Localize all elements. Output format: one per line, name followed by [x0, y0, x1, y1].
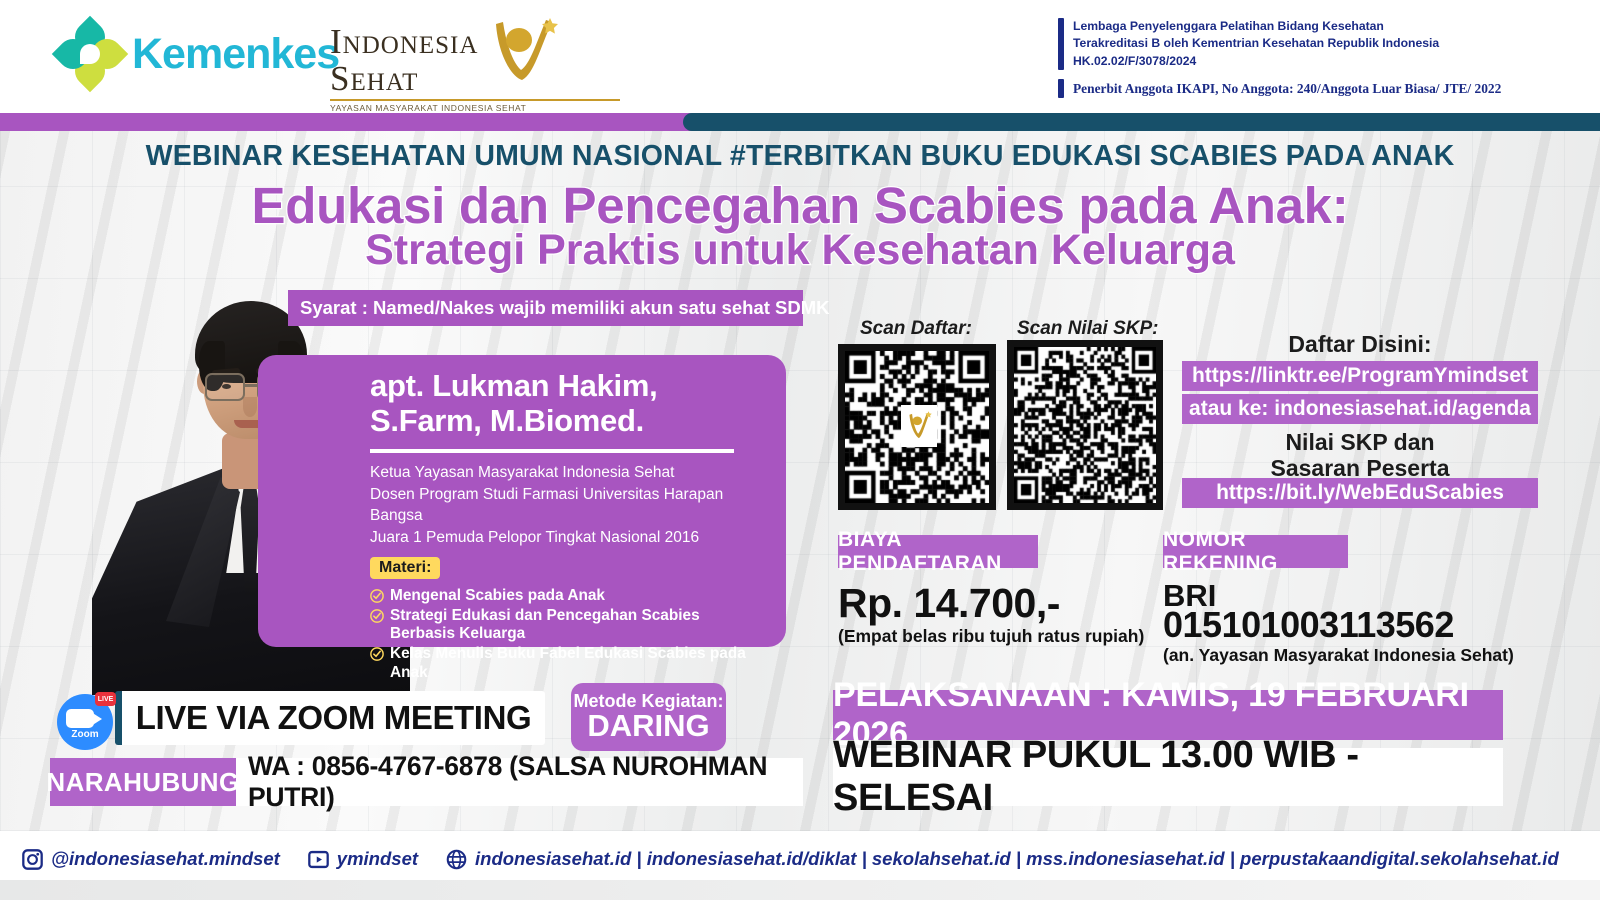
accreditation-line-3: HK.02.02/F/3078/2024 [1073, 53, 1439, 70]
webinar-poster: Kemenkes Indonesia Sehat YAYASAN MASYARA… [0, 0, 1600, 900]
ikapi-lines: Penerbit Anggota IKAPI, No Anggota: 240/… [1073, 79, 1501, 98]
check-circle-icon [370, 647, 384, 661]
footer-youtube-handle: ymindset [337, 848, 418, 870]
register-link-linktree[interactable]: https://linktr.ee/ProgramYmindset [1182, 361, 1538, 391]
contact-label: NARAHUBUNG [50, 758, 236, 806]
footer-pad [0, 880, 1600, 900]
bank-account-owner: (an. Yayasan Masyarakat Indonesia Sehat) [1163, 645, 1514, 666]
strip-teal-segment [683, 113, 1600, 131]
kemenkes-mark-icon [58, 22, 122, 86]
check-circle-icon [370, 589, 384, 603]
footer-youtube[interactable]: ymindset [308, 848, 418, 870]
fee-amount: Rp. 14.700,- [838, 580, 1060, 627]
strip-purple-segment [0, 113, 700, 131]
contact-whatsapp[interactable]: WA : 0856-4767-6878 (SALSA NUROHMAN PUTR… [236, 758, 803, 806]
is-word-indonesia: Indonesia [330, 22, 478, 61]
footer-instagram-handle: @indonesiasehat.mindset [51, 848, 280, 870]
divider-strip [0, 113, 1600, 131]
live-platform-bar: LIVE VIA ZOOM MEETING [115, 691, 545, 745]
zoom-icon-label: Zoom [57, 729, 113, 740]
swoosh-star-icon [488, 18, 558, 86]
ikapi-bar [1058, 79, 1064, 98]
requirement-banner: Syarat : Named/Nakes wajib memiliki akun… [288, 290, 803, 326]
skp-heading-line-1: Nilai SKP dan [1180, 430, 1540, 456]
method-value: DARING [587, 710, 709, 743]
speaker-name: apt. Lukman Hakim, S.Farm, M.Biomed. [370, 369, 766, 438]
register-link-agenda[interactable]: atau ke: indonesiasehat.id/agenda [1182, 394, 1538, 424]
speaker-role-2: Dosen Program Studi Farmasi Universitas … [370, 484, 766, 527]
globe-icon [446, 849, 467, 870]
qr-code-nilai-skp[interactable] [1007, 340, 1163, 510]
kemenkes-wordmark: Kemenkes [132, 30, 339, 79]
accreditation-bar [1058, 18, 1064, 70]
materi-item-text: Strategi Edukasi dan Pencegahan Scabies … [390, 607, 766, 643]
materi-item-text: Mengenal Scabies pada Anak [390, 587, 605, 605]
speaker-divider [370, 449, 734, 453]
speaker-roles: Ketua Yayasan Masyarakat Indonesia Sehat… [370, 462, 766, 548]
bank-account-number: 015101003113562 [1163, 607, 1454, 643]
fee-tag: BIAYA PENDAFTARAN [838, 535, 1038, 568]
materi-list: Mengenal Scabies pada Anak Strategi Eduk… [370, 587, 766, 682]
footer-bar: @indonesiasehat.mindset ymindset indones… [0, 838, 1600, 880]
qr-center-logo [901, 405, 937, 447]
accreditation-group-1: Lembaga Penyelenggara Pelatihan Bidang K… [1058, 18, 1578, 70]
accreditation-block: Lembaga Penyelenggara Pelatihan Bidang K… [1058, 18, 1578, 107]
footer-websites[interactable]: indonesiasehat.id | indonesiasehat.id/di… [446, 848, 1559, 870]
schedule-date-bar: PELAKSANAAN : KAMIS, 19 FEBRUARI 2026 [833, 690, 1503, 740]
fee-amount-words: (Empat belas ribu tujuh ratus rupiah) [838, 626, 1144, 647]
header-band: Kemenkes Indonesia Sehat YAYASAN MASYARA… [0, 0, 1600, 113]
swoosh-small-icon [906, 411, 932, 441]
check-circle-icon [370, 609, 384, 623]
indonesia-sehat-logo: Indonesia Sehat YAYASAN MASYARAKAT INDON… [330, 24, 630, 113]
accreditation-line-1: Lembaga Penyelenggara Pelatihan Bidang K… [1073, 18, 1439, 35]
instagram-icon [22, 849, 43, 870]
footer-websites-text: indonesiasehat.id | indonesiasehat.id/di… [475, 848, 1559, 870]
account-tag: NOMOR REKENING [1163, 535, 1348, 568]
contact-label-text: NARAHUBUNG [46, 767, 239, 798]
method-card: Metode Kegiatan: DARING [571, 683, 726, 751]
accreditation-group-2: Penerbit Anggota IKAPI, No Anggota: 240/… [1058, 79, 1578, 98]
materi-item: Mengenal Scabies pada Anak [370, 587, 766, 605]
schedule-time-text: WEBINAR PUKUL 13.00 WIB - SELESAI [833, 734, 1503, 820]
live-platform-text: LIVE VIA ZOOM MEETING [136, 699, 532, 737]
speaker-role-3: Juara 1 Pemuda Pelopor Tingkat Nasional … [370, 527, 766, 548]
register-heading: Daftar Disini: [1180, 332, 1540, 358]
speaker-name-line-1: apt. Lukman Hakim, [370, 369, 766, 404]
event-kicker: WEBINAR KESEHATAN UMUM NASIONAL #TERBITK… [0, 140, 1600, 173]
is-word-sehat: Sehat [330, 59, 418, 98]
speaker-card: apt. Lukman Hakim, S.Farm, M.Biomed. Ket… [258, 355, 786, 647]
footer-instagram[interactable]: @indonesiasehat.mindset [22, 848, 280, 870]
materi-item: Kelas Menulis Buku Fabel Edukasi Scabies… [370, 645, 766, 681]
is-underline [330, 99, 620, 101]
live-badge: LIVE [95, 692, 116, 706]
qr-label-skp: Scan Nilai SKP: [1017, 318, 1159, 340]
skp-link-bitly[interactable]: https://bit.ly/WebEduScabies [1182, 478, 1538, 508]
speaker-role-1: Ketua Yayasan Masyarakat Indonesia Sehat [370, 462, 766, 483]
skp-heading: Nilai SKP dan Sasaran Peserta [1180, 430, 1540, 482]
accreditation-line-2: Terakreditasi B oleh Kementrian Kesehata… [1073, 35, 1439, 52]
contact-whatsapp-text: WA : 0856-4767-6878 (SALSA NUROHMAN PUTR… [248, 751, 803, 813]
youtube-icon [308, 849, 329, 870]
indonesia-sehat-wordmark: Indonesia Sehat [330, 24, 630, 98]
ikapi-line: Penerbit Anggota IKAPI, No Anggota: 240/… [1073, 79, 1501, 98]
kemenkes-logo: Kemenkes [58, 22, 339, 86]
materi-item: Strategi Edukasi dan Pencegahan Scabies … [370, 607, 766, 643]
accreditation-lines: Lembaga Penyelenggara Pelatihan Bidang K… [1073, 18, 1439, 70]
qr-label-daftar: Scan Daftar: [860, 318, 972, 340]
is-tagline: YAYASAN MASYARAKAT INDONESIA SEHAT [330, 103, 630, 113]
materi-item-text: Kelas Menulis Buku Fabel Edukasi Scabies… [390, 645, 766, 681]
speaker-name-line-2: S.Farm, M.Biomed. [370, 404, 766, 439]
schedule-time-bar: WEBINAR PUKUL 13.00 WIB - SELESAI [833, 748, 1503, 806]
materi-tag: Materi: [370, 557, 440, 579]
zoom-icon: Zoom LIVE [57, 694, 113, 750]
